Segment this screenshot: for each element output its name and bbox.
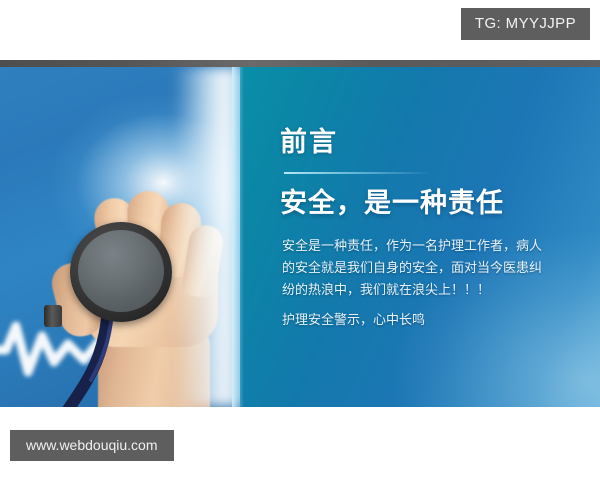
closing-line: 护理安全警示，心中长鸣 bbox=[282, 309, 560, 331]
body-line: 的安全就是我们自身的安全，面对当今医患纠 bbox=[282, 257, 560, 279]
body-line: 安全是一种责任，作为一名护理工作者，病人 bbox=[282, 235, 560, 257]
photo-edge-glow bbox=[174, 67, 240, 407]
page-title: 安全，是一种责任 bbox=[280, 189, 504, 219]
stethoscope-diaphragm bbox=[78, 230, 164, 312]
panel-seam bbox=[232, 67, 244, 407]
slide-top-bar bbox=[0, 60, 600, 67]
section-kicker: 前言 bbox=[280, 129, 338, 156]
stethoscope-stem bbox=[44, 305, 62, 327]
stethoscope-chestpiece-icon bbox=[70, 222, 172, 322]
text-panel: 前言 安全，是一种责任 安全是一种责任，作为一名护理工作者，病人 的安全就是我们… bbox=[240, 67, 600, 407]
body-copy: 安全是一种责任，作为一名护理工作者，病人 的安全就是我们自身的安全，面对当今医患… bbox=[282, 235, 560, 331]
site-watermark: www.webdouqiu.com bbox=[10, 430, 174, 461]
kicker-divider bbox=[284, 172, 432, 174]
text-panel-inner: 前言 安全，是一种责任 安全是一种责任，作为一名护理工作者，病人 的安全就是我们… bbox=[280, 67, 578, 407]
slide-image: 前言 安全，是一种责任 安全是一种责任，作为一名护理工作者，病人 的安全就是我们… bbox=[0, 60, 600, 407]
photo-panel bbox=[0, 67, 240, 407]
body-line: 纷的热浪中，我们就在浪尖上！！！ bbox=[282, 279, 560, 301]
tg-badge: TG: MYYJJPP bbox=[461, 8, 590, 40]
